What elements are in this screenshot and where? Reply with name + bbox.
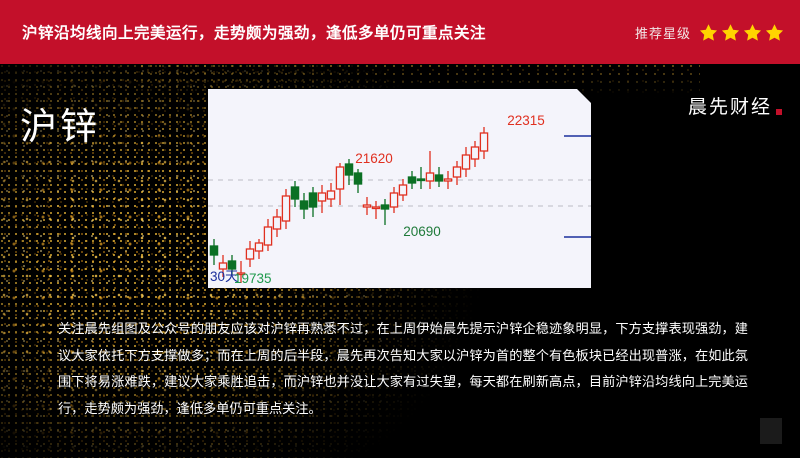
candlestick: [300, 193, 307, 219]
chart-annotation: 21620: [355, 151, 393, 166]
candlestick: [363, 197, 370, 215]
candlestick: [273, 209, 280, 237]
candle-body: [399, 185, 406, 195]
candlestick: [453, 161, 460, 185]
candlestick: [435, 167, 442, 187]
star-icon: [721, 23, 740, 42]
candlestick: [390, 187, 397, 213]
candle-body: [408, 177, 415, 183]
candle-body: [228, 261, 235, 269]
candlestick: [264, 219, 271, 251]
candlestick: [255, 239, 262, 259]
brand-accent-square: [776, 109, 782, 115]
chart-annotation: 20690: [403, 224, 441, 239]
candle-body: [309, 193, 316, 207]
candle-body: [435, 175, 442, 181]
candle-body: [336, 167, 343, 189]
poster-canvas: 沪锌沿均线向上完美运行，走势颇为强劲，逢低多单仍可重点关注 推荐星级 沪锌 晨先…: [0, 0, 800, 458]
article-body: 关注晨先组图及公众号的朋友应该对沪锌再熟悉不过，在上周伊始晨先提示沪锌企稳迹象明…: [58, 316, 748, 422]
candle-body: [426, 173, 433, 181]
candle-body: [327, 191, 334, 199]
candle-body: [453, 167, 460, 177]
ma-value-label: 19735: [234, 271, 272, 286]
candlestick-chart: 21620206902231530天19735: [208, 89, 591, 288]
candlestick: [246, 241, 253, 267]
chart-annotation: 22315: [507, 113, 545, 128]
candle-body: [417, 179, 424, 181]
candlestick-chart-panel: 21620206902231530天19735: [208, 89, 591, 288]
candlestick: [336, 163, 343, 205]
candle-body: [210, 246, 217, 255]
star-icon: [743, 23, 762, 42]
candlestick: [426, 151, 433, 189]
candle-body: [291, 187, 298, 199]
candlestick: [417, 167, 424, 189]
candle-body: [462, 155, 469, 169]
candlestick: [291, 181, 298, 207]
candle-body: [471, 147, 478, 159]
candle-body: [345, 164, 352, 175]
candlestick: [480, 127, 487, 159]
candle-body: [354, 173, 361, 184]
candlestick: [471, 141, 478, 167]
header-bar: 沪锌沿均线向上完美运行，走势颇为强劲，逢低多单仍可重点关注 推荐星级: [0, 0, 800, 64]
candle-body: [318, 193, 325, 201]
candle-body: [480, 133, 487, 151]
candle-body: [390, 193, 397, 207]
rating-group: 推荐星级: [635, 0, 784, 64]
candle-body: [264, 227, 271, 245]
star-icon: [765, 23, 784, 42]
candle-body: [381, 205, 388, 209]
candlestick: [282, 189, 289, 229]
candlestick: [381, 199, 388, 225]
candle-body: [372, 207, 379, 209]
candle-body: [282, 196, 289, 221]
candlestick: [444, 171, 451, 189]
candlestick: [327, 183, 334, 207]
rating-label: 推荐星级: [635, 23, 691, 42]
candlestick: [318, 185, 325, 213]
asset-title: 沪锌: [20, 96, 100, 150]
candlestick: [309, 187, 316, 217]
header-title: 沪锌沿均线向上完美运行，走势颇为强劲，逢低多单仍可重点关注: [22, 21, 486, 43]
candle-body: [255, 243, 262, 251]
rating-stars: [699, 23, 784, 42]
candlestick: [399, 179, 406, 201]
bottom-right-marker: [760, 418, 782, 444]
candlestick: [354, 169, 361, 193]
candlestick: [345, 159, 352, 185]
brand-logo: 晨先财经: [688, 92, 782, 119]
candlestick: [372, 201, 379, 219]
candle-body: [444, 179, 451, 181]
brand-name: 晨先财经: [688, 92, 772, 119]
candle-body: [300, 201, 307, 209]
article-paragraph: 关注晨先组图及公众号的朋友应该对沪锌再熟悉不过，在上周伊始晨先提示沪锌企稳迹象明…: [58, 316, 748, 422]
candle-body: [363, 205, 370, 207]
star-icon: [699, 23, 718, 42]
candlestick: [408, 171, 415, 189]
candlestick: [462, 147, 469, 177]
candle-body: [246, 249, 253, 259]
candlestick: [210, 239, 217, 265]
candle-body: [273, 217, 280, 229]
